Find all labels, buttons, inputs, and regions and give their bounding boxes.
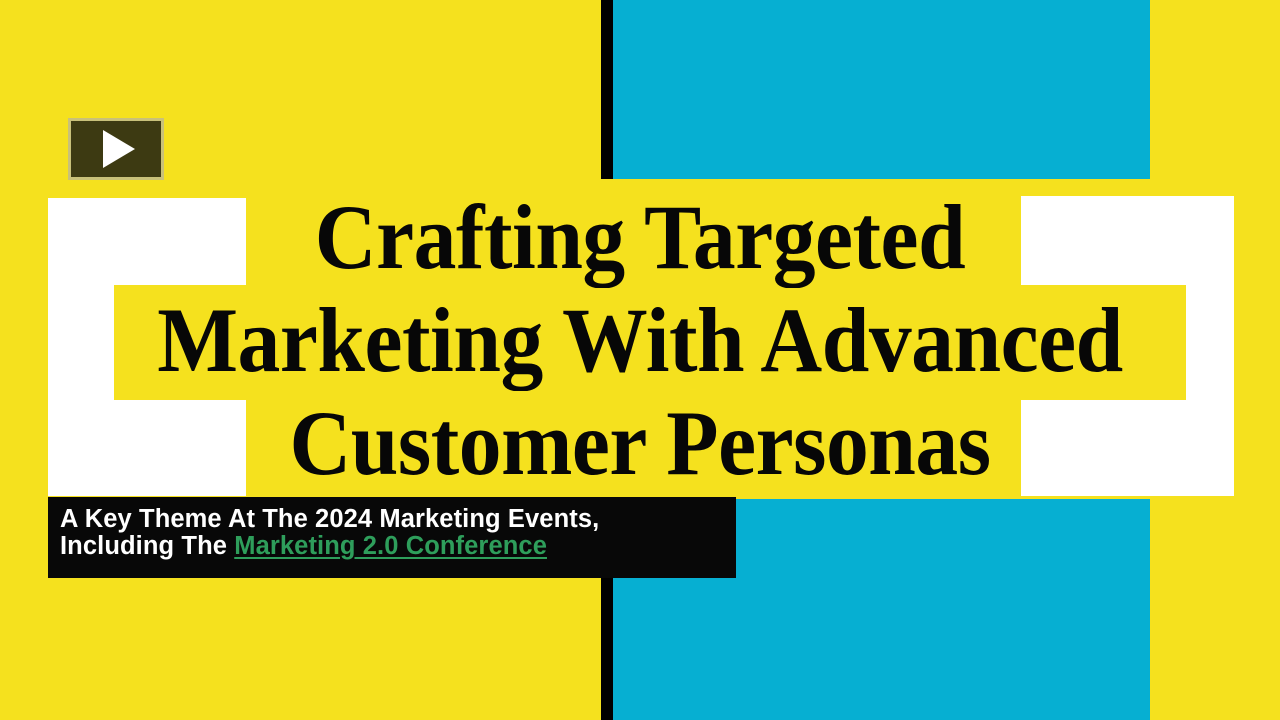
subtitle-line-2-prefix: Including The <box>60 532 234 560</box>
yellow-highlight-band-middle <box>114 285 1186 400</box>
marketing-conference-link[interactable]: Marketing 2.0 Conference <box>234 532 547 560</box>
subtitle-line-1: A Key Theme At The 2024 Marketing Events… <box>60 506 736 533</box>
play-triangle-icon <box>103 130 135 168</box>
subtitle-line-2: Including The Marketing 2.0 Conference <box>60 533 736 560</box>
play-button[interactable] <box>68 118 164 180</box>
slide-canvas: Crafting Targeted Marketing With Advance… <box>0 0 1280 720</box>
subtitle-banner: A Key Theme At The 2024 Marketing Events… <box>48 497 736 578</box>
